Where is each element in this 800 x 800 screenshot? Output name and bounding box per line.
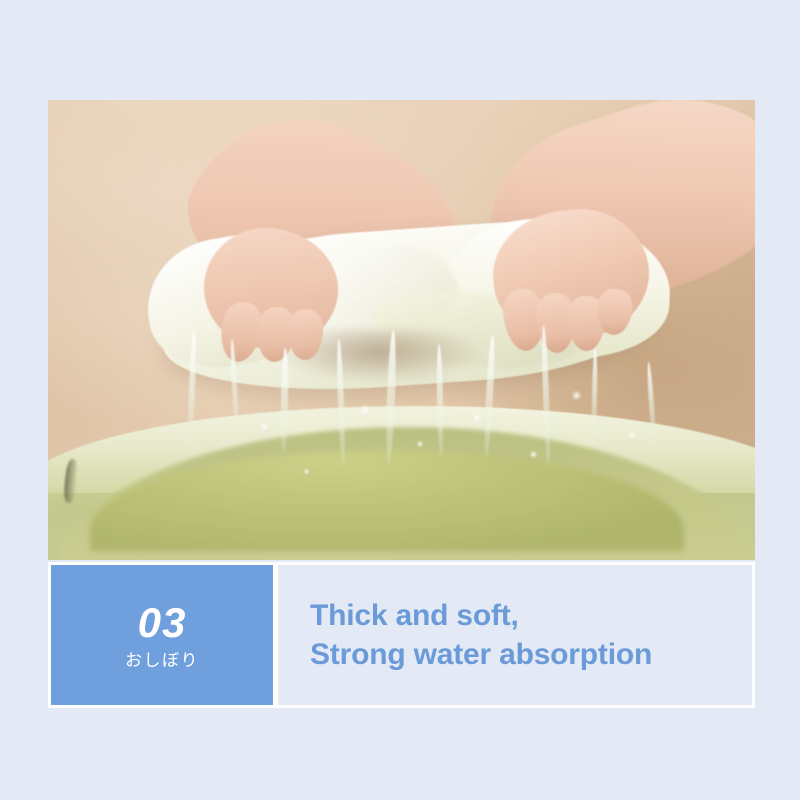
caption-card: 03 おしぼり Thick and soft, Strong water abs… — [48, 562, 755, 708]
water-droplet-5 — [529, 450, 538, 459]
step-badge: 03 おしぼり — [51, 565, 273, 705]
water-droplet-8 — [628, 431, 636, 439]
headline-line-1: Thick and soft, — [310, 596, 752, 635]
product-feature-card: 03 おしぼり Thick and soft, Strong water abs… — [0, 0, 800, 800]
water-droplet-7 — [303, 468, 310, 475]
water-droplet-2 — [359, 404, 371, 416]
water-droplet-4 — [472, 413, 482, 423]
step-subtitle-japanese: おしぼり — [125, 652, 199, 669]
product-photo — [48, 100, 755, 560]
caption-text-panel: Thick and soft, Strong water absorption — [278, 565, 752, 705]
step-number: 03 — [138, 602, 187, 644]
water-droplet-6 — [571, 390, 582, 401]
headline-line-2: Strong water absorption — [310, 635, 752, 674]
